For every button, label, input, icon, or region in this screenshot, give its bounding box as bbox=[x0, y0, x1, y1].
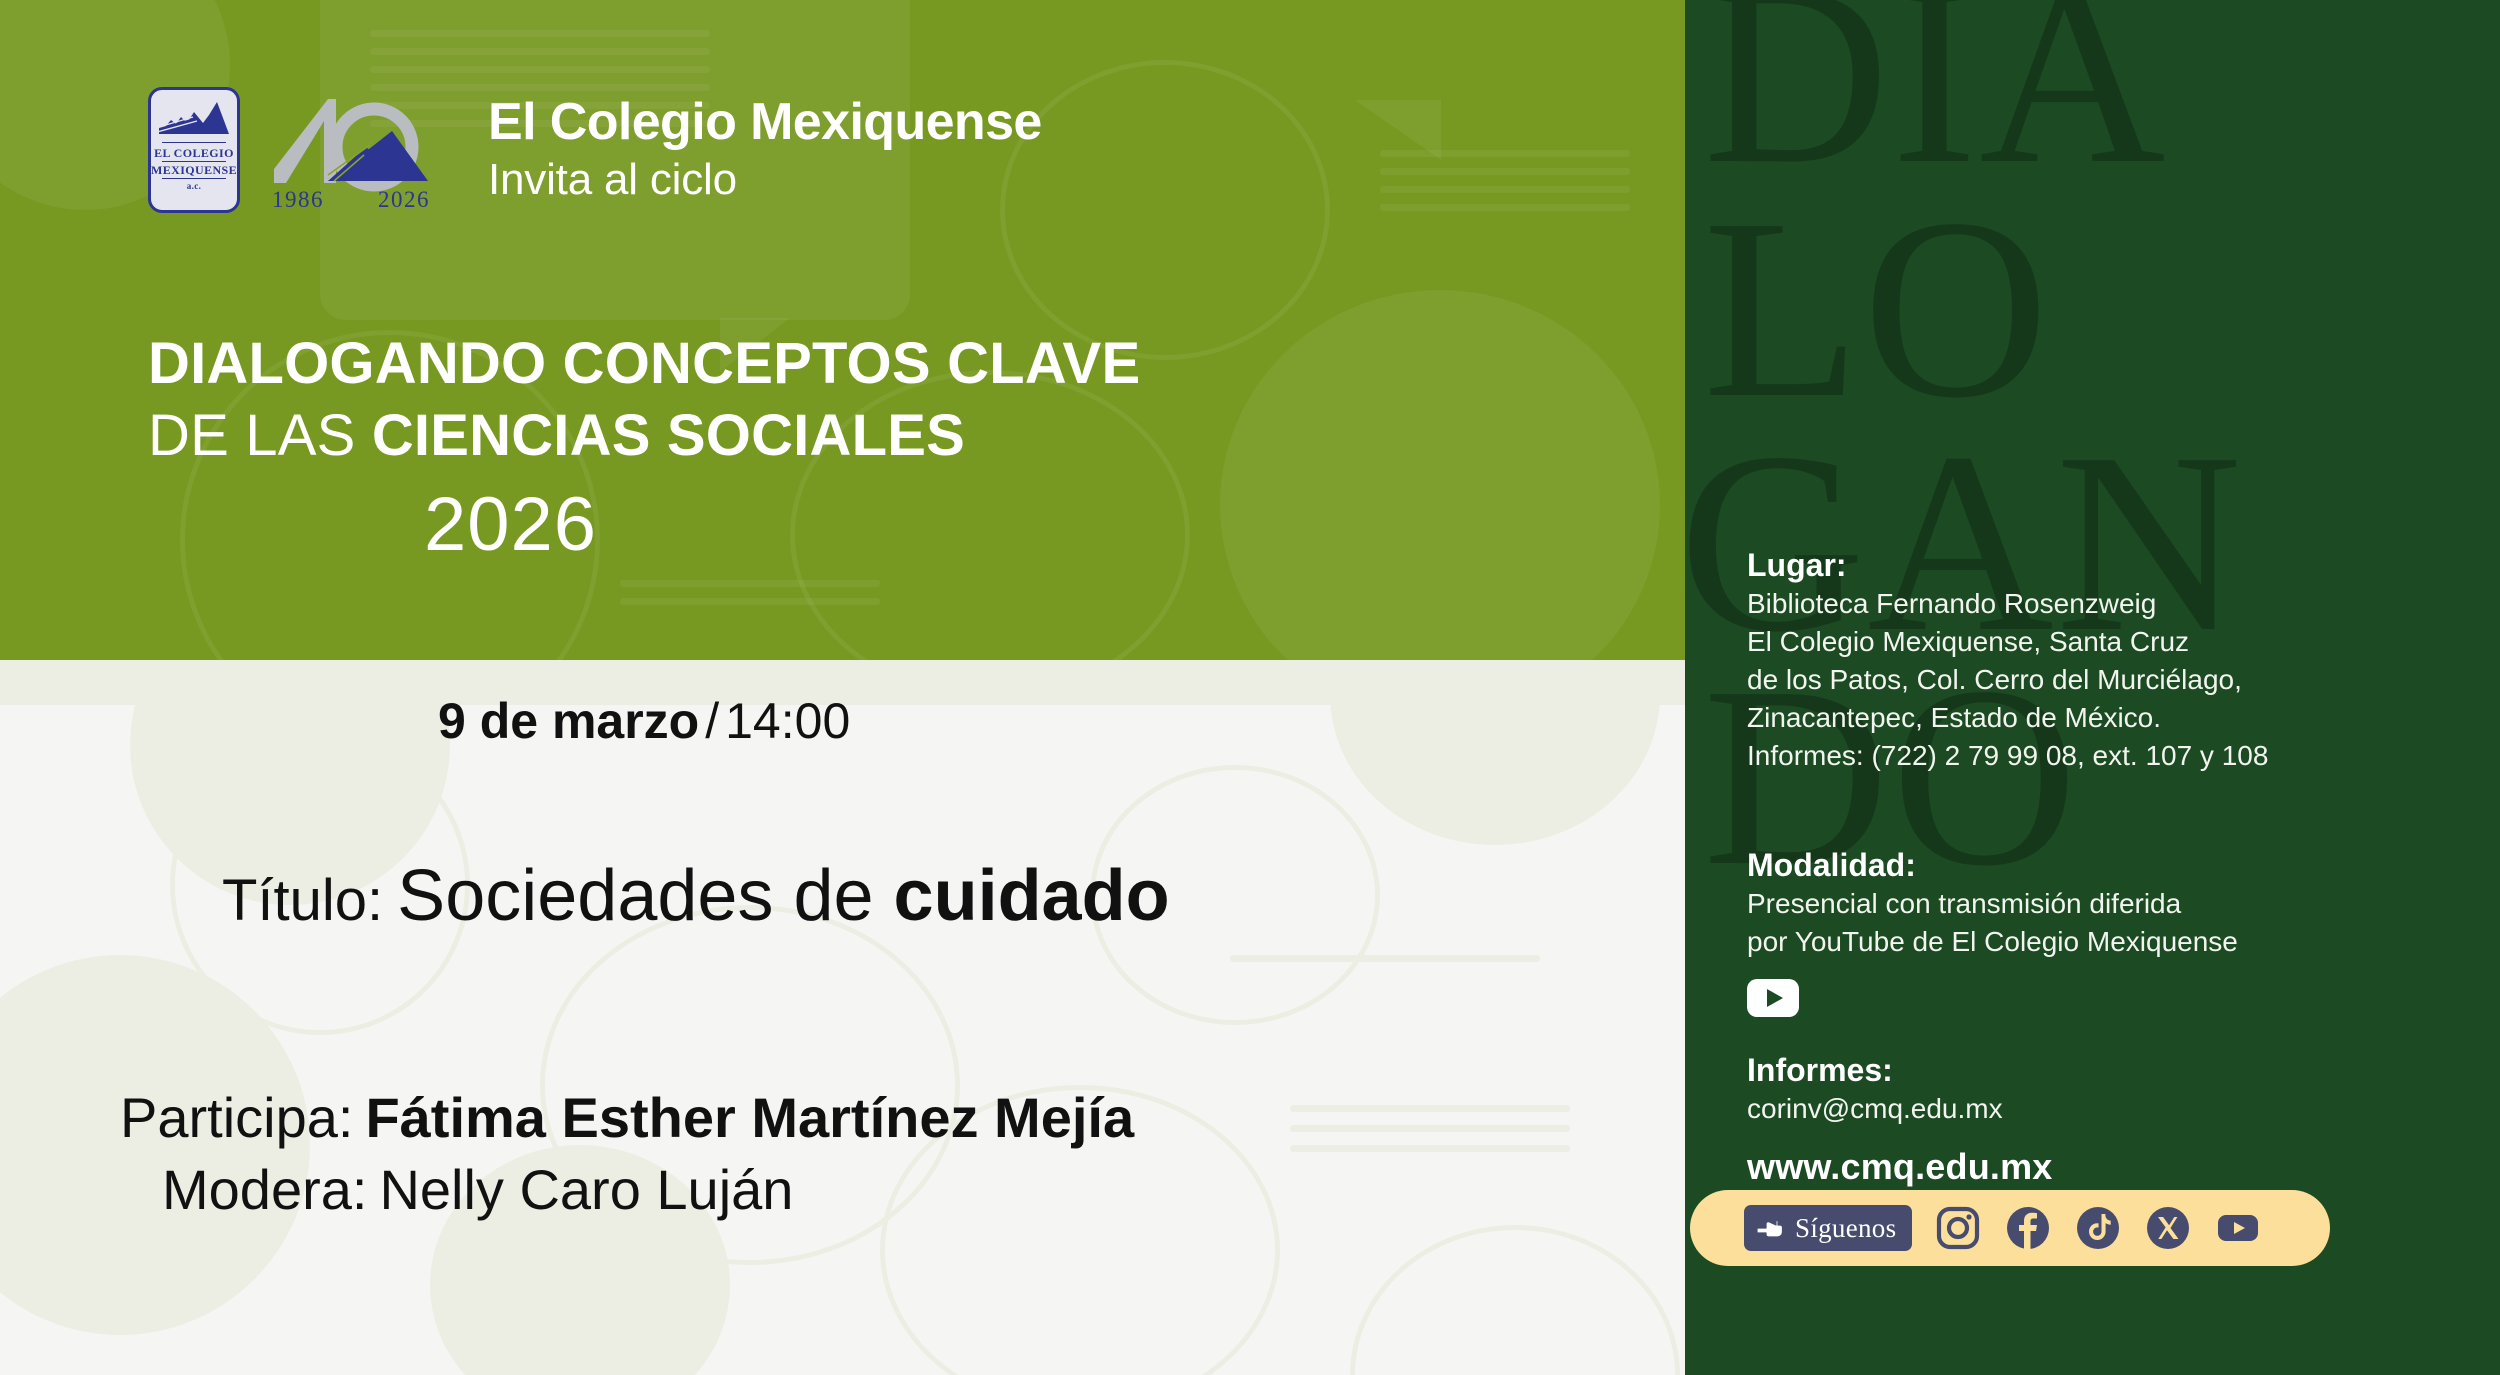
talk-title-plain: Sociedades de bbox=[397, 856, 893, 936]
crest-divider bbox=[162, 178, 226, 180]
venue-line-4: Zinacantepec, Estado de México. bbox=[1747, 699, 2268, 737]
cycle-title-line2-thin: DE LAS bbox=[148, 403, 356, 468]
contact-email[interactable]: corinv@cmq.edu.mx bbox=[1747, 1090, 2053, 1128]
talk-title-label: Título: bbox=[222, 867, 383, 934]
tiktok-icon[interactable] bbox=[2074, 1204, 2122, 1252]
cycle-title-block: DIALOGANDO CONCEPTOS CLAVE DE LAS CIENCI… bbox=[148, 330, 1140, 566]
modality-block: Modalidad: Presencial con transmisión di… bbox=[1747, 845, 2238, 1017]
decor-bubble-lines bbox=[1230, 955, 1540, 975]
moderator-name: Nelly Caro Luján bbox=[379, 1158, 793, 1221]
venue-block: Lugar: Biblioteca Fernando Rosenzweig El… bbox=[1747, 545, 2268, 775]
talk-title-row: Título: Sociedades de cuidado bbox=[222, 855, 1170, 937]
institution-name: El Colegio Mexiquense bbox=[488, 94, 1042, 150]
social-media-bar: Síguenos bbox=[1690, 1190, 2330, 1266]
website-url[interactable]: www.cmq.edu.mx bbox=[1747, 1146, 2053, 1188]
x-twitter-icon[interactable] bbox=[2144, 1204, 2192, 1252]
venue-line-2: El Colegio Mexiquense, Santa Cruz bbox=[1747, 623, 2268, 661]
moderator-label: Modera: bbox=[162, 1158, 367, 1221]
svg-text:2026: 2026 bbox=[378, 187, 430, 212]
watermark-line-1: DIA bbox=[1703, 0, 2168, 186]
date-time-separator: / bbox=[705, 693, 719, 749]
decor-bubble-ring bbox=[1350, 1225, 1680, 1375]
venue-line-3: de los Patos, Col. Cerro del Murciélago, bbox=[1747, 661, 2268, 699]
svg-text:1986: 1986 bbox=[272, 187, 324, 212]
contact-block: Informes: corinv@cmq.edu.mx www.cmq.edu.… bbox=[1747, 1050, 2053, 1188]
anniversary-40-logo: 1986 2026 bbox=[266, 85, 446, 215]
event-time: 14:00 bbox=[725, 693, 850, 749]
crest-divider bbox=[162, 161, 226, 163]
decor-bubble-lines bbox=[620, 580, 880, 616]
left-column: EL COLEGIO MEXIQUENSE a.c. 1986 2026 bbox=[0, 0, 1685, 1375]
youtube-icon[interactable] bbox=[2214, 1204, 2262, 1252]
crest-line-2: MEXIQUENSE bbox=[151, 164, 237, 177]
pointing-hand-icon bbox=[1756, 1215, 1786, 1241]
white-content-area bbox=[0, 705, 1685, 1375]
cycle-title-line2-bold: CIENCIAS SOCIALES bbox=[372, 403, 965, 468]
header-titles: El Colegio Mexiquense Invita al ciclo bbox=[488, 94, 1042, 207]
event-date-time: 9 de marzo/14:00 bbox=[438, 692, 850, 750]
venue-heading: Lugar: bbox=[1747, 545, 2268, 585]
mountain-emblem-icon bbox=[157, 98, 231, 140]
follow-us-button[interactable]: Síguenos bbox=[1744, 1205, 1912, 1251]
follow-us-label: Síguenos bbox=[1795, 1213, 1896, 1244]
instagram-icon[interactable] bbox=[1934, 1204, 1982, 1252]
talk-title-value: Sociedades de cuidado bbox=[397, 855, 1169, 937]
poster-header: EL COLEGIO MEXIQUENSE a.c. 1986 2026 bbox=[0, 0, 1685, 300]
play-triangle-icon bbox=[1767, 989, 1783, 1007]
contact-heading: Informes: bbox=[1747, 1050, 2053, 1090]
cycle-year: 2026 bbox=[424, 483, 1140, 567]
venue-phone-line: Informes: (722) 2 79 99 08, ext. 107 y 1… bbox=[1747, 737, 2268, 775]
moderator-row: Modera:Nelly Caro Luján bbox=[0, 1157, 1685, 1223]
event-date: 9 de marzo bbox=[438, 693, 699, 749]
crest-line-3: a.c. bbox=[187, 182, 202, 191]
people-block: Participa:Fátima Esther Martínez Mejía M… bbox=[0, 1085, 1685, 1223]
crest-line-1: EL COLEGIO bbox=[154, 147, 234, 160]
cycle-title-line2: DE LAS CIENCIAS SOCIALES bbox=[148, 402, 1140, 470]
modality-line-2: por YouTube de El Colegio Mexiquense bbox=[1747, 923, 2238, 961]
decor-bubble bbox=[1220, 290, 1660, 660]
event-poster: EL COLEGIO MEXIQUENSE a.c. 1986 2026 bbox=[0, 0, 2500, 1375]
anniversary-40-icon: 1986 2026 bbox=[266, 85, 446, 215]
facebook-icon[interactable] bbox=[2004, 1204, 2052, 1252]
invitation-text: Invita al ciclo bbox=[488, 154, 1042, 207]
youtube-icon[interactable] bbox=[1747, 979, 1799, 1017]
participant-label: Participa: bbox=[120, 1086, 353, 1149]
right-info-panel: DIA LO GAN DO Lugar: Biblioteca Fernando… bbox=[1685, 0, 2500, 1375]
cycle-title-line1: DIALOGANDO CONCEPTOS CLAVE bbox=[148, 330, 1140, 398]
modality-line-1: Presencial con transmisión diferida bbox=[1747, 885, 2238, 923]
participant-row: Participa:Fátima Esther Martínez Mejía bbox=[0, 1085, 1685, 1151]
decor-bubble bbox=[1330, 705, 1660, 845]
venue-line-1: Biblioteca Fernando Rosenzweig bbox=[1747, 585, 2268, 623]
colegio-mexiquense-crest-logo: EL COLEGIO MEXIQUENSE a.c. bbox=[148, 87, 240, 213]
watermark-line-2: LO bbox=[1703, 198, 2051, 420]
talk-title-emphasis: cuidado bbox=[894, 856, 1170, 936]
crest-divider bbox=[162, 142, 226, 144]
participant-name: Fátima Esther Martínez Mejía bbox=[365, 1086, 1134, 1149]
modality-heading: Modalidad: bbox=[1747, 845, 2238, 885]
